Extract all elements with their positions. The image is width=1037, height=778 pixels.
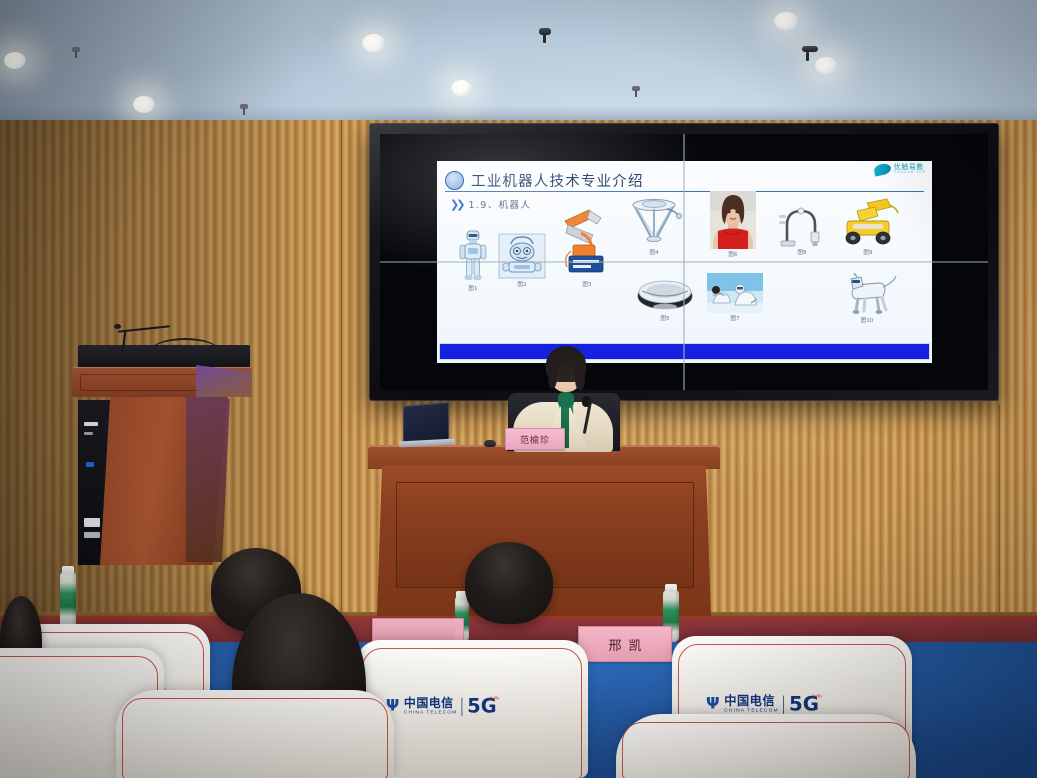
rack-indicator bbox=[84, 518, 100, 527]
ceiling-shadow bbox=[0, 0, 300, 132]
circle-emblem-icon bbox=[445, 171, 464, 190]
figure-caption: 图3 bbox=[558, 280, 616, 288]
video-wall-seam bbox=[380, 261, 988, 263]
video-wall-panels: 工业机器人技术专业介绍 优触易教 YOUCAN TOP ❯❯ 1.9、机器人 bbox=[380, 134, 988, 390]
china-telecom-logo: Ψ 中国电信 CHINA TELECOM 5G hello bbox=[386, 697, 497, 716]
rack-indicator bbox=[84, 422, 98, 426]
figure-caption: 图6 bbox=[707, 250, 759, 258]
chair-piping bbox=[122, 698, 388, 778]
slide-title: 工业机器人技术专业介绍 bbox=[471, 170, 644, 191]
logo-en-text: YOUCAN TOP bbox=[894, 171, 926, 174]
ceiling-sprinkler-icon bbox=[632, 86, 640, 91]
orange-industrial-arm-icon bbox=[559, 205, 615, 279]
five-g-logo: 5G hello bbox=[467, 697, 496, 716]
figure-caption: 图8 bbox=[775, 248, 829, 256]
china-telecom-logo: Ψ 中国电信 CHINA TELECOM 5G hello bbox=[706, 695, 819, 715]
figure-caption: 图2 bbox=[495, 280, 549, 288]
slide-section-label: 1.9、机器人 bbox=[468, 197, 531, 211]
ceiling-downlight bbox=[815, 57, 837, 74]
rack-indicator bbox=[86, 462, 94, 467]
figure-caption: 图7 bbox=[705, 314, 765, 322]
rack-indicator bbox=[84, 532, 100, 538]
boxed-robot-toy-icon bbox=[498, 233, 546, 279]
audience-chair[interactable] bbox=[116, 690, 394, 778]
slide-figure: 图5 bbox=[633, 279, 697, 322]
delta-parallel-robot-icon bbox=[623, 197, 685, 247]
slide-figure: 图8 bbox=[775, 201, 829, 256]
ceiling-sprinkler-icon bbox=[72, 47, 80, 52]
hello-text: hello bbox=[490, 696, 499, 701]
telecom-mark-icon: Ψ bbox=[706, 697, 720, 713]
presenter-nameplate: 范榆珍 bbox=[505, 428, 565, 450]
slide-figure: 图7 bbox=[705, 273, 765, 322]
chair-piping bbox=[622, 722, 910, 778]
conference-room-photo: 工业机器人技术专业介绍 优触易教 YOUCAN TOP ❯❯ 1.9、机器人 bbox=[0, 0, 1037, 778]
attendee-head bbox=[465, 542, 553, 624]
slide-figure: 图9 bbox=[835, 197, 901, 256]
robot-vacuum-cleaner-icon bbox=[636, 279, 694, 313]
ceiling-downlight bbox=[451, 80, 472, 96]
rack-indicator bbox=[84, 432, 93, 435]
presenter-neck bbox=[558, 392, 574, 408]
double-chevron-icon: ❯❯ bbox=[450, 198, 462, 211]
bottle-cap bbox=[62, 566, 74, 574]
presenter-hair bbox=[546, 346, 586, 382]
wall-seam bbox=[341, 120, 342, 620]
slide-figure: 图6 bbox=[707, 191, 759, 258]
figure-caption: 图4 bbox=[621, 248, 687, 256]
slide-brand-logo: 优触易教 YOUCAN TOP bbox=[874, 164, 926, 175]
telecom-cn-text: 中国电信 bbox=[404, 698, 457, 711]
bottle-cap bbox=[665, 584, 677, 592]
ceiling-downlight bbox=[362, 34, 385, 52]
humanoid-android-woman-icon bbox=[710, 191, 756, 249]
ceiling-sensor-icon bbox=[802, 46, 818, 52]
robot-dog-icon bbox=[837, 273, 897, 315]
figure-caption: 图5 bbox=[633, 314, 697, 322]
slim-collaborative-arm-icon bbox=[777, 201, 827, 247]
water-bottle[interactable] bbox=[60, 572, 76, 628]
logo-divider bbox=[783, 695, 784, 714]
video-wall-display[interactable]: 工业机器人技术专业介绍 优触易教 YOUCAN TOP ❯❯ 1.9、机器人 bbox=[369, 123, 999, 401]
audience-chair[interactable] bbox=[616, 714, 916, 778]
figure-caption: 图10 bbox=[835, 316, 899, 324]
mouse-icon[interactable] bbox=[484, 440, 496, 447]
ceiling-downlight bbox=[774, 12, 798, 30]
ceiling-sprinkler-icon bbox=[240, 104, 248, 109]
hello-text: hello bbox=[813, 694, 822, 699]
figure-caption: 图1 bbox=[453, 284, 493, 292]
attendee-name-text: 邢凯 bbox=[601, 635, 648, 654]
ceiling-downlight bbox=[4, 52, 26, 69]
slide-figure: 图4 bbox=[621, 197, 687, 256]
figure-caption: 图9 bbox=[835, 248, 901, 256]
presenter-nameplate-text: 范榆珍 bbox=[520, 433, 550, 446]
telecom-en-text: CHINA TELECOM bbox=[724, 708, 778, 713]
five-g-logo: 5G hello bbox=[789, 695, 819, 715]
slide-figure: 图3 bbox=[558, 205, 616, 288]
telecom-en-text: CHINA TELECOM bbox=[404, 710, 457, 715]
wall-seam bbox=[999, 405, 1000, 620]
attendee-name-card: 邢凯 bbox=[578, 626, 672, 662]
telecom-cn-text: 中国电信 bbox=[724, 696, 778, 709]
yellow-tracked-rover-icon bbox=[837, 197, 899, 247]
swoosh-logo-icon bbox=[873, 162, 892, 176]
slide-figure: 图10 bbox=[835, 273, 899, 324]
robot-dogs-on-beach-icon bbox=[707, 273, 763, 313]
ceiling-sensor-icon bbox=[539, 28, 551, 35]
podium-mic-icon bbox=[114, 324, 121, 329]
slide-section-row: ❯❯ 1.9、机器人 bbox=[450, 197, 531, 211]
ceiling-downlight bbox=[133, 96, 155, 113]
humanoid-toy-robot-icon bbox=[458, 229, 488, 283]
logo-divider bbox=[462, 697, 463, 715]
